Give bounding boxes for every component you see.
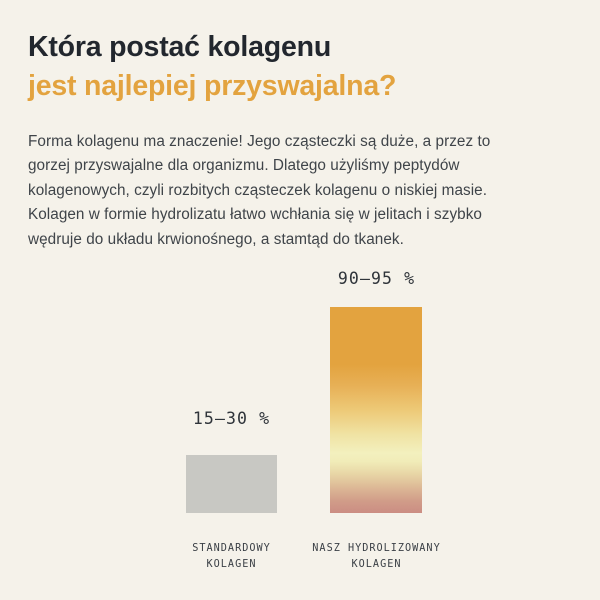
bar-caption-standard-line1: STANDARDOWY (151, 541, 312, 557)
bar-caption-hydrolyzed-line2: KOLAGEN (296, 557, 457, 573)
bar-value-label-standard: 15–30 % (151, 409, 312, 428)
bar-caption-standard: STANDARDOWY KOLAGEN (151, 541, 312, 573)
bar-caption-hydrolyzed: NASZ HYDROLIZOWANY KOLAGEN (296, 541, 457, 573)
bar-chart: 15–30 % STANDARDOWY KOLAGEN 90–95 % NASZ… (0, 0, 600, 600)
bar-caption-standard-line2: KOLAGEN (151, 557, 312, 573)
bar-hydrolyzed-collagen (330, 307, 422, 513)
bar-value-label-hydrolyzed: 90–95 % (296, 269, 457, 288)
bar-caption-hydrolyzed-line1: NASZ HYDROLIZOWANY (296, 541, 457, 557)
bar-standard-collagen (186, 455, 277, 513)
